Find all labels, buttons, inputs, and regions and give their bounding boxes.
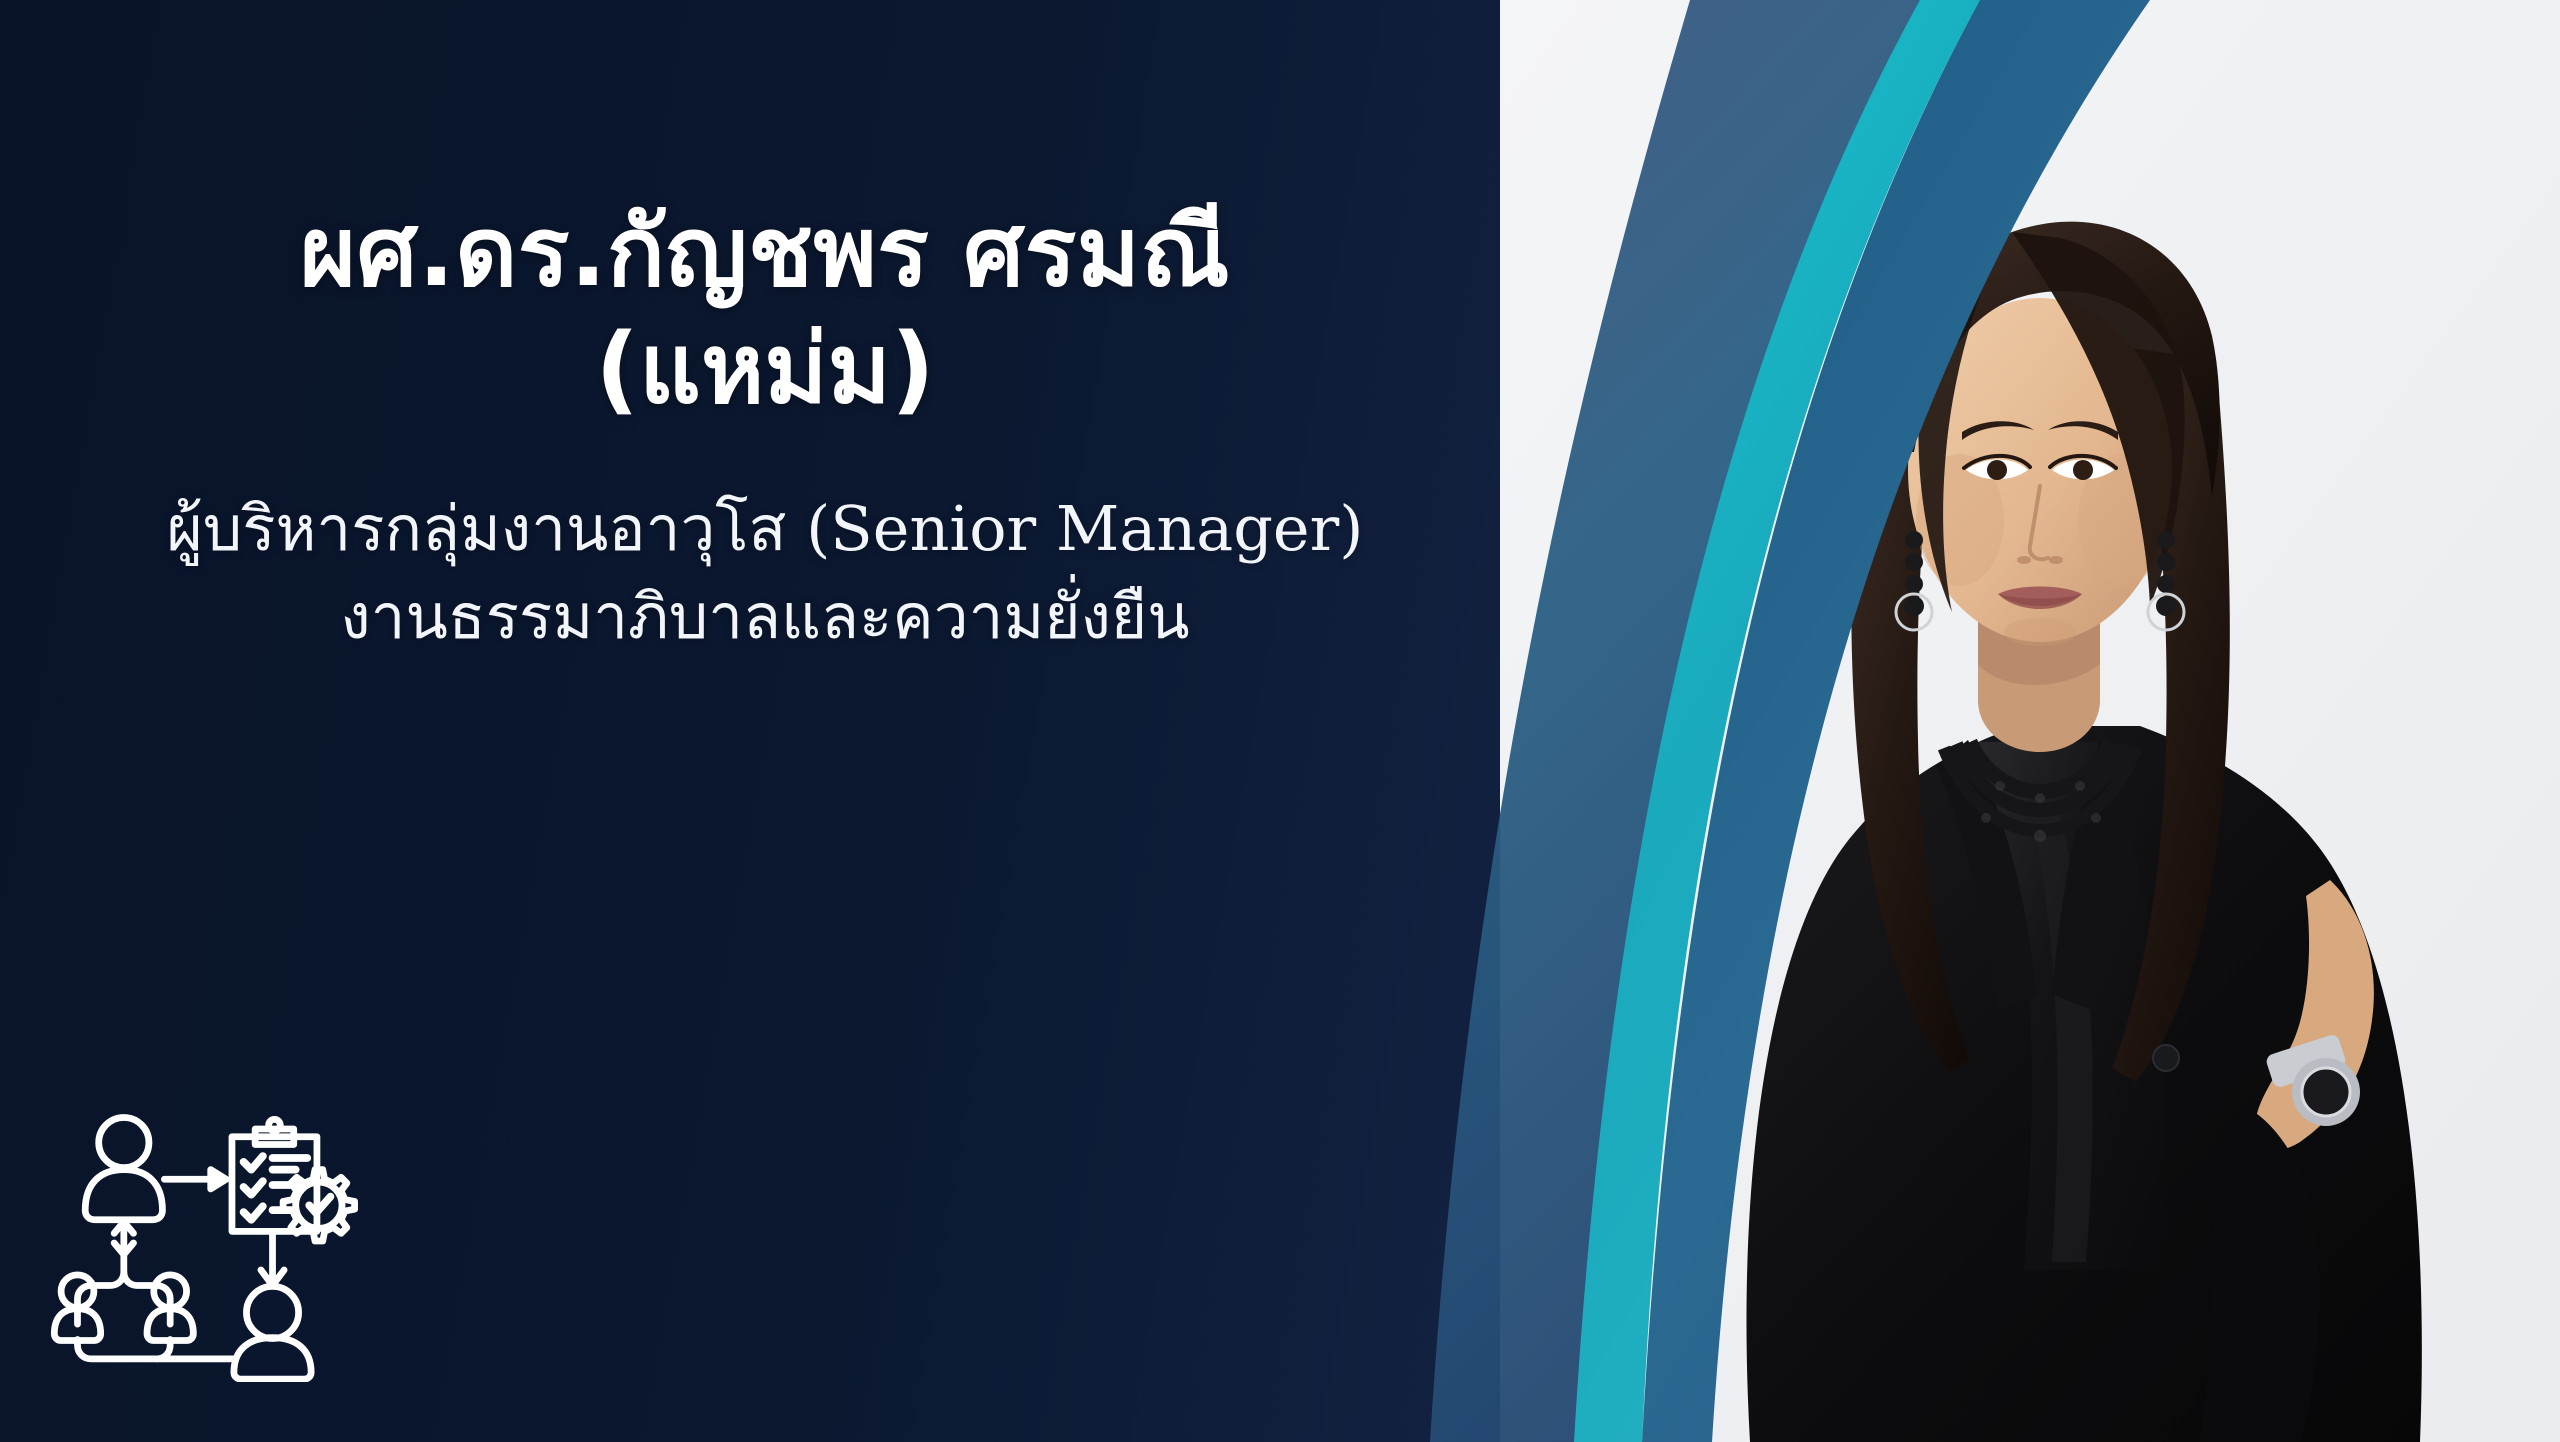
person-icon — [234, 1286, 311, 1379]
speaker-profile-slide: ผศ.ดร.กัญชพร ศรมณี (แหม่ม) ผู้บริหารกลุ่… — [0, 0, 2560, 1442]
speaker-text-block: ผศ.ดร.กัญชพร ศรมณี (แหม่ม) ผู้บริหารกลุ่… — [0, 196, 1530, 661]
clipboard-checklist-icon — [232, 1119, 317, 1231]
person-icon — [54, 1275, 100, 1341]
person-icon — [147, 1275, 193, 1341]
arrow-right-icon — [164, 1170, 226, 1189]
speaker-department: งานธรรมาภิบาลและความยั่งยืน — [0, 573, 1530, 661]
speaker-name: ผศ.ดร.กัญชพร ศรมณี — [0, 196, 1530, 309]
person-icon — [85, 1117, 162, 1219]
speaker-nickname: (แหม่ม) — [0, 313, 1530, 426]
governance-workflow-icon — [48, 1102, 358, 1382]
arrow-up-down-icon — [114, 1222, 133, 1255]
gear-check-icon — [283, 1170, 354, 1241]
speaker-portrait-image — [1500, 0, 2560, 1442]
arrow-down-icon — [261, 1233, 284, 1285]
speaker-role-thai: ผู้บริหารกลุ่มงานอาวุโส — [167, 492, 807, 565]
speaker-role: ผู้บริหารกลุ่มงานอาวุโส (Senior Manager) — [0, 485, 1530, 573]
speaker-portrait-container — [1500, 0, 2560, 1442]
speaker-role-english: (Senior Manager) — [806, 492, 1363, 565]
